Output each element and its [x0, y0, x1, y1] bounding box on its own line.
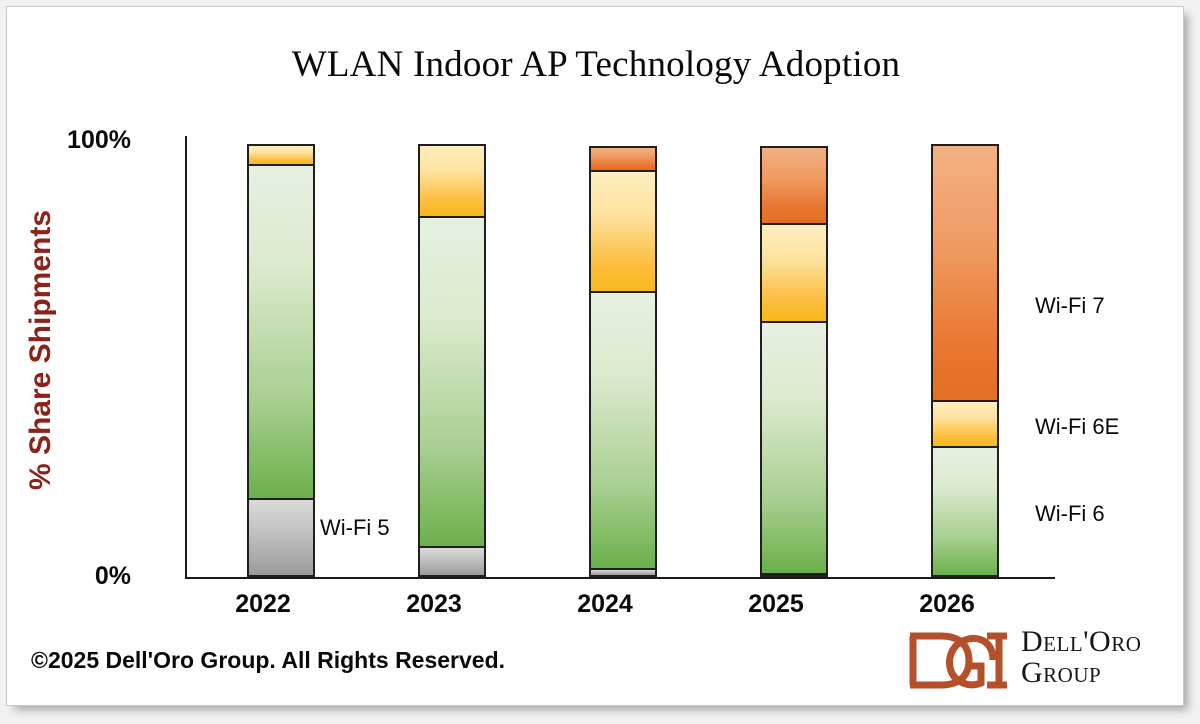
legend-label-wifi5: Wi-Fi 5 [320, 515, 390, 541]
bar-segment-wifi5-2022 [247, 498, 315, 577]
bar-segment-wifi6e-2024 [589, 170, 657, 292]
x-tick-2026: 2026 [877, 590, 1017, 619]
bar-column-2025 [760, 140, 828, 577]
bar-segment-wifi7-2025 [760, 146, 828, 225]
logo-line-2: Group [1021, 658, 1141, 689]
legend-label-wifi7: Wi-Fi 7 [1035, 293, 1105, 319]
bar-column-2023 [418, 140, 486, 577]
bar-segment-wifi6-2022 [247, 164, 315, 500]
y-tick-100: 100% [67, 126, 131, 155]
logo-line-1: Dell'Oro [1021, 627, 1141, 658]
legend-label-wifi6e: Wi-Fi 6E [1035, 414, 1119, 440]
bar-segment-wifi5-2025 [760, 573, 828, 577]
legend-label-wifi6: Wi-Fi 6 [1035, 501, 1105, 527]
copyright-text: ©2025 Dell'Oro Group. All Rights Reserve… [31, 647, 505, 674]
bar-column-2026 [931, 140, 999, 577]
bar-segment-wifi6-2024 [589, 291, 657, 571]
screenshot-root: WLAN Indoor AP Technology Adoption % Sha… [0, 0, 1200, 724]
y-axis-label: % Share Shipments [24, 200, 58, 500]
logo-wordmark: Dell'Oro Group [1021, 627, 1141, 688]
chart-card: WLAN Indoor AP Technology Adoption % Sha… [6, 6, 1184, 706]
dell-oro-logo: Dell'Oro Group [907, 625, 1137, 699]
bar-segment-wifi6e-2022 [247, 144, 315, 166]
bar-column-2024 [589, 140, 657, 577]
x-tick-2024: 2024 [535, 590, 675, 619]
x-axis-line [185, 577, 1055, 579]
bar-segment-wifi6-2023 [418, 216, 486, 548]
bar-segment-wifi6-2025 [760, 321, 828, 574]
bar-segment-wifi6e-2026 [931, 400, 999, 448]
bar-segment-wifi6-2026 [931, 446, 999, 577]
bar-segment-wifi5-2023 [418, 546, 486, 577]
x-tick-2022: 2022 [193, 590, 333, 619]
bar-column-2022 [247, 140, 315, 577]
x-tick-2023: 2023 [364, 590, 504, 619]
bar-segment-wifi6e-2023 [418, 144, 486, 218]
bar-segment-wifi7-2026 [931, 144, 999, 402]
page-title: WLAN Indoor AP Technology Adoption [7, 43, 1185, 86]
bar-segment-wifi6e-2025 [760, 223, 828, 324]
bar-segment-wifi7-2024 [589, 146, 657, 172]
bar-segment-wifi5-2024 [589, 568, 657, 577]
bar-series-layer [185, 136, 1055, 577]
x-tick-2025: 2025 [706, 590, 846, 619]
y-tick-0: 0% [95, 562, 131, 591]
dg-monogram-icon [907, 627, 1011, 693]
